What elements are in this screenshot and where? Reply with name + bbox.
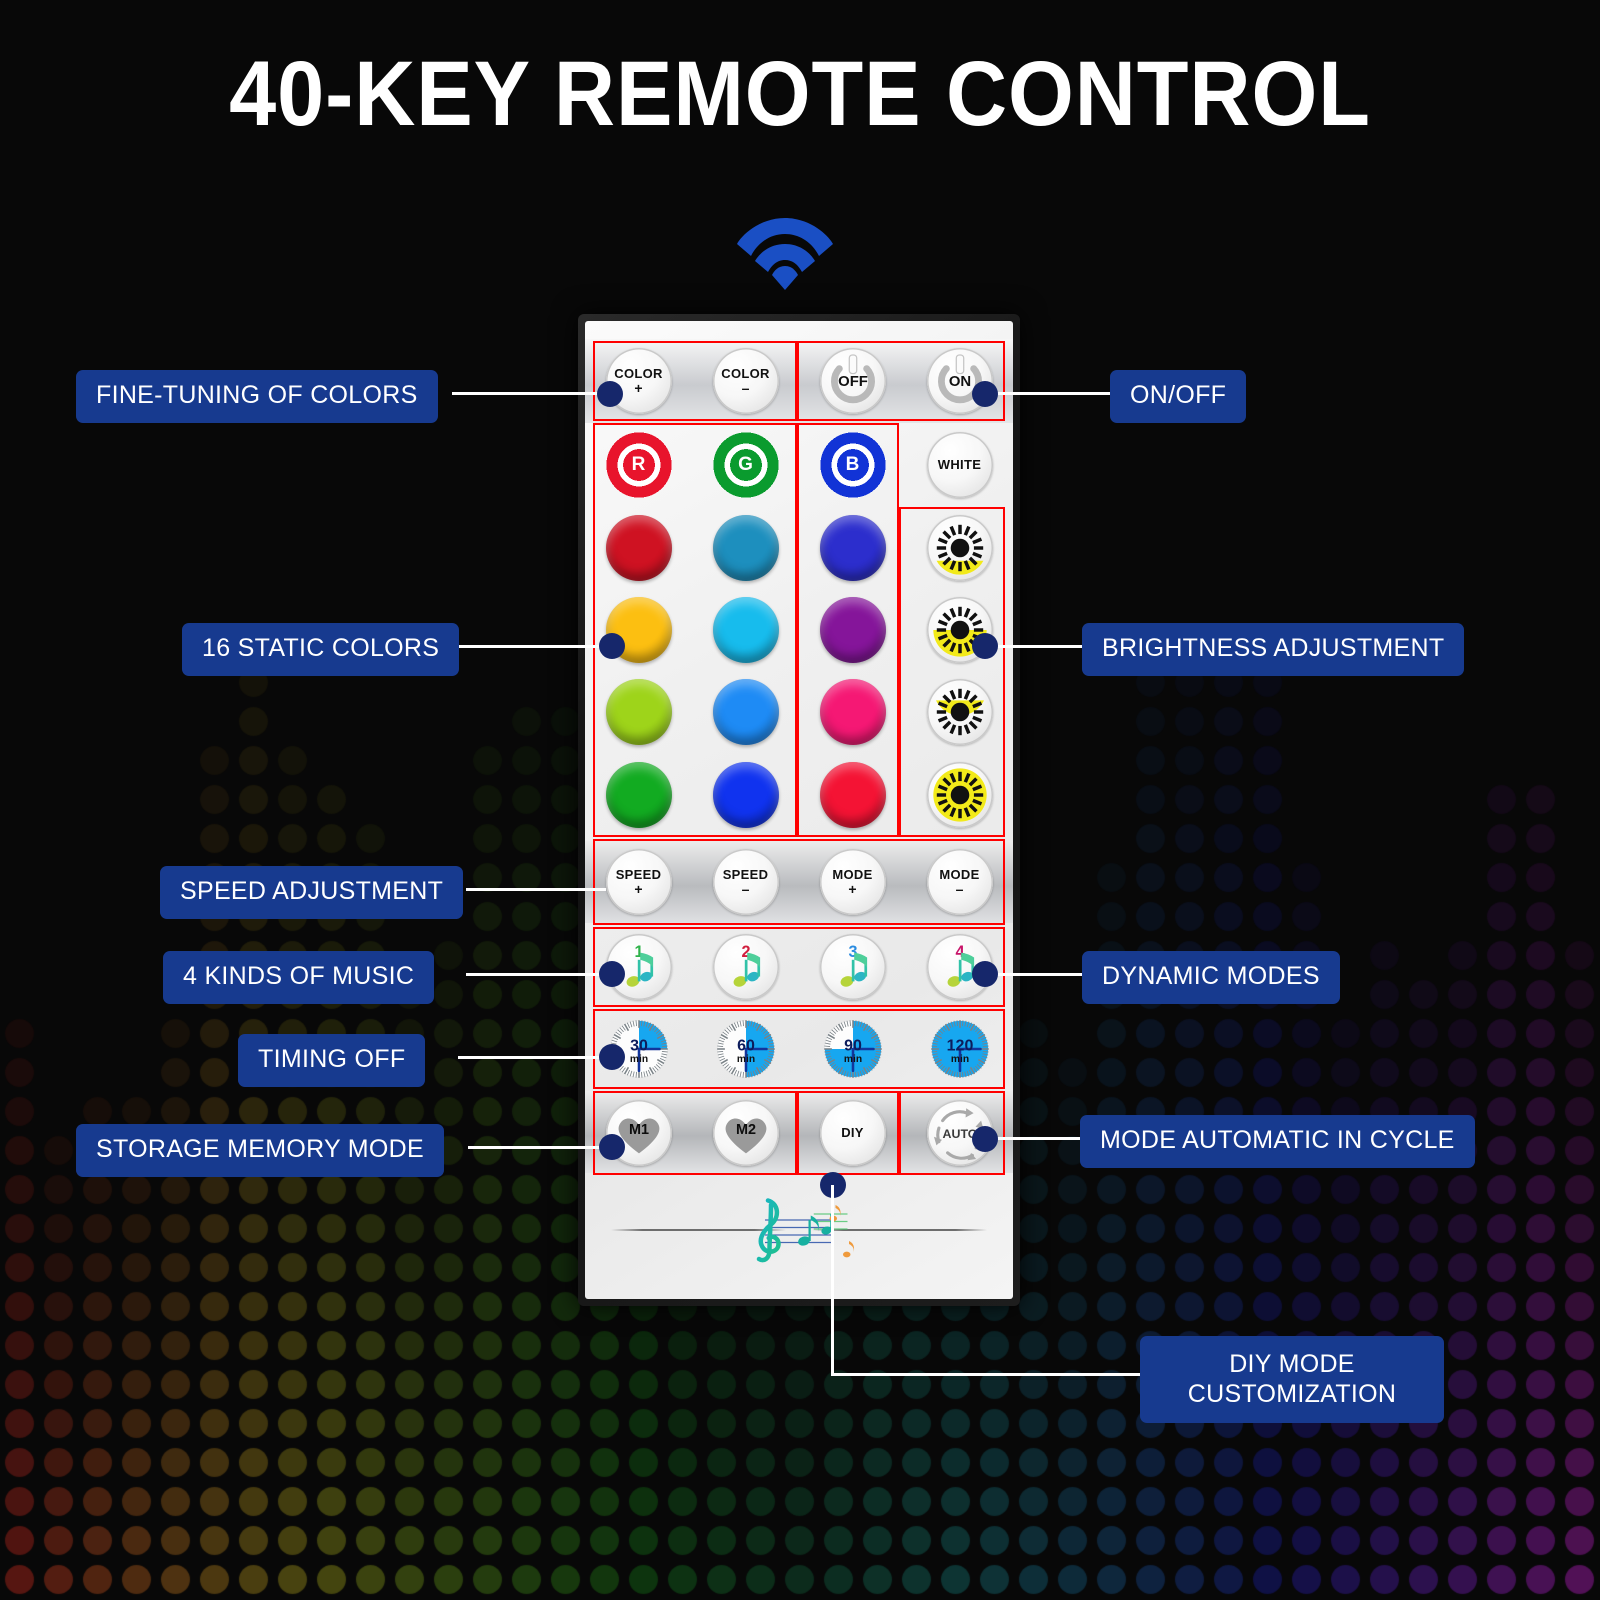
memory-m2-button-cell: M2 xyxy=(692,1091,799,1175)
nub-dynamic xyxy=(972,961,998,987)
leader-timing xyxy=(458,1056,609,1059)
label-speed-adjustment: SPEED ADJUSTMENT xyxy=(160,866,463,919)
label-storage-memory-mode: STORAGE MEMORY MODE xyxy=(76,1124,444,1177)
off-button[interactable]: OFF xyxy=(820,348,886,414)
color-plus-button-cell: COLOR+ xyxy=(585,341,692,421)
label-mode-automatic-in-cycle: MODE AUTOMATIC IN CYCLE xyxy=(1080,1115,1475,1168)
svg-text:M1: M1 xyxy=(629,1122,649,1138)
music-staff-logo xyxy=(585,1183,1013,1273)
color-swatch-cyan[interactable] xyxy=(713,597,779,663)
color-swatch-magenta-cell xyxy=(799,671,906,753)
keypad-row-row-colors-2 xyxy=(585,589,1013,671)
label-diy-mode-customization: DIY MODE CUSTOMIZATION xyxy=(1140,1336,1444,1423)
svg-text:ON: ON xyxy=(948,374,970,390)
svg-text:min: min xyxy=(950,1054,968,1065)
nub-fine-tuning xyxy=(597,381,623,407)
color-swatch-cyan-cell xyxy=(692,589,799,671)
svg-text:30: 30 xyxy=(630,1037,648,1054)
memory-m1-button-cell: M1 xyxy=(585,1091,692,1175)
color-swatch-purple[interactable] xyxy=(820,597,886,663)
mode-minus-button[interactable]: MODE– xyxy=(927,849,993,915)
blue-ring-button-cell: B xyxy=(799,423,906,507)
diy-button-cell: DIY xyxy=(799,1091,906,1175)
color-minus-button[interactable]: COLOR– xyxy=(713,348,779,414)
mode-plus-button-label: MODE xyxy=(832,868,872,882)
color-swatch-blue[interactable] xyxy=(713,762,779,828)
keypad-row-row-music: 1234 xyxy=(585,927,1013,1007)
keypad-row-row-speed-mode: SPEED+SPEED–MODE+MODE– xyxy=(585,839,1013,925)
keypad-row-row-power: COLOR+COLOR–OFFON xyxy=(585,341,1013,421)
speed-minus-button-sign: – xyxy=(742,882,750,896)
speed-minus-button-cell: SPEED– xyxy=(692,839,799,925)
remote-control-device: COLOR+COLOR–OFFONRGBWHITESPEED+SPEED–MOD… xyxy=(578,314,1020,1306)
off-button-cell: OFF xyxy=(799,341,906,421)
mode-plus-button-sign: + xyxy=(848,882,856,896)
nub-static-colors xyxy=(599,633,625,659)
nub-auto xyxy=(972,1126,998,1152)
label-diy-line2: CUSTOMIZATION xyxy=(1158,1380,1426,1410)
label-timing-off: TIMING OFF xyxy=(238,1034,425,1087)
color-swatch-lime[interactable] xyxy=(606,679,672,745)
green-ring-button-cell: G xyxy=(692,423,799,507)
color-minus-button-label: COLOR xyxy=(721,367,769,381)
color-swatch-green[interactable] xyxy=(606,762,672,828)
color-swatch-azure[interactable] xyxy=(713,679,779,745)
color-swatch-red[interactable] xyxy=(820,762,886,828)
memory-m2-button[interactable]: M2 xyxy=(713,1100,779,1166)
brightness-25-button-cell xyxy=(906,507,1013,589)
green-ring-button-letter: G xyxy=(731,450,761,480)
diy-button-label: DIY xyxy=(841,1126,864,1140)
remote-faceplate: COLOR+COLOR–OFFONRGBWHITESPEED+SPEED–MOD… xyxy=(585,321,1013,1299)
svg-text:min: min xyxy=(843,1054,861,1065)
speed-minus-button-label: SPEED xyxy=(723,868,769,882)
color-swatch-amber-cell xyxy=(585,589,692,671)
color-swatch-crimson-cell xyxy=(585,507,692,589)
wifi-icon xyxy=(735,200,835,290)
timer-120min-button-cell: 120min xyxy=(906,1009,1013,1089)
mode-plus-button[interactable]: MODE+ xyxy=(820,849,886,915)
on-button-cell: ON xyxy=(906,341,1013,421)
white-button[interactable]: WHITE xyxy=(927,432,993,498)
brightness-100-button-cell xyxy=(906,753,1013,837)
svg-text:60: 60 xyxy=(737,1037,755,1054)
speed-plus-button-cell: SPEED+ xyxy=(585,839,692,925)
speed-plus-button[interactable]: SPEED+ xyxy=(606,849,672,915)
speed-plus-button-sign: + xyxy=(634,882,642,896)
brightness-25-button[interactable] xyxy=(927,515,993,581)
label-diy-line1: DIY MODE xyxy=(1158,1350,1426,1380)
music-mode-3-button-cell: 3 xyxy=(799,927,906,1007)
svg-text:90: 90 xyxy=(844,1037,862,1054)
color-plus-button-label: COLOR xyxy=(614,367,662,381)
brightness-75-button[interactable] xyxy=(927,679,993,745)
white-button-cell: WHITE xyxy=(906,423,1013,507)
keypad-row-row-colors-4 xyxy=(585,753,1013,837)
color-swatch-magenta[interactable] xyxy=(820,679,886,745)
color-minus-button-cell: COLOR– xyxy=(692,341,799,421)
mode-minus-button-label: MODE xyxy=(939,868,979,882)
color-swatch-teal-cell xyxy=(692,507,799,589)
leader-music xyxy=(466,973,609,976)
white-button-label: WHITE xyxy=(938,458,981,472)
nub-music xyxy=(599,961,625,987)
nub-storage xyxy=(599,1134,625,1160)
mode-minus-button-cell: MODE– xyxy=(906,839,1013,925)
red-ring-button[interactable]: R xyxy=(606,432,672,498)
diy-button[interactable]: DIY xyxy=(820,1100,886,1166)
color-swatch-azure-cell xyxy=(692,671,799,753)
nub-onoff xyxy=(972,381,998,407)
label-on-off: ON/OFF xyxy=(1110,370,1246,423)
leader-diy-vertical xyxy=(831,1185,834,1375)
color-swatch-green-cell xyxy=(585,753,692,837)
music-mode-2-button[interactable]: 2 xyxy=(713,934,779,1000)
nub-brightness xyxy=(972,633,998,659)
music-mode-3-button[interactable]: 3 xyxy=(820,934,886,1000)
nub-timing xyxy=(599,1044,625,1070)
color-swatch-purple-cell xyxy=(799,589,906,671)
music-mode-2-button-cell: 2 xyxy=(692,927,799,1007)
color-swatch-lime-cell xyxy=(585,671,692,753)
label-4-kinds-of-music: 4 KINDS OF MUSIC xyxy=(163,951,434,1004)
color-swatch-blue-cell xyxy=(692,753,799,837)
keypad-row-row-rgbw: RGBWHITE xyxy=(585,423,1013,507)
color-swatch-teal[interactable] xyxy=(713,515,779,581)
svg-text:OFF: OFF xyxy=(838,374,868,390)
red-ring-button-cell: R xyxy=(585,423,692,507)
timer-120min-button[interactable]: 120min xyxy=(927,1016,993,1082)
brightness-100-button[interactable] xyxy=(927,762,993,828)
svg-text:min: min xyxy=(736,1054,754,1065)
brightness-50-button-cell xyxy=(906,589,1013,671)
label-brightness-adjustment: BRIGHTNESS ADJUSTMENT xyxy=(1082,623,1464,676)
keypad-row-row-timer: 30min60min90min120min xyxy=(585,1009,1013,1089)
speed-plus-button-label: SPEED xyxy=(616,868,662,882)
blue-ring-button-letter: B xyxy=(838,450,868,480)
svg-text:M2: M2 xyxy=(736,1122,756,1138)
label-16-static-colors: 16 STATIC COLORS xyxy=(182,623,459,676)
leader-speed xyxy=(466,888,606,891)
label-fine-tuning-of-colors: FINE-TUNING OF COLORS xyxy=(76,370,438,423)
timer-60min-button-cell: 60min xyxy=(692,1009,799,1089)
green-ring-button[interactable]: G xyxy=(713,432,779,498)
label-dynamic-modes: DYNAMIC MODES xyxy=(1082,951,1340,1004)
keypad-row-row-memory: M1M2DIYAUTO xyxy=(585,1091,1013,1175)
leader-onoff xyxy=(990,392,1122,395)
keypad-row-row-colors-3 xyxy=(585,671,1013,753)
color-minus-button-sign: – xyxy=(742,381,750,395)
leader-fine-tuning xyxy=(452,392,607,395)
page-title: 40-KEY REMOTE CONTROL xyxy=(64,42,1536,147)
leader-diy-horizontal xyxy=(831,1373,1141,1376)
blue-ring-button[interactable]: B xyxy=(820,432,886,498)
leader-static-colors xyxy=(447,645,609,648)
color-swatch-indigo-cell xyxy=(799,507,906,589)
mode-minus-button-sign: – xyxy=(956,882,964,896)
timer-60min-button[interactable]: 60min xyxy=(713,1016,779,1082)
leader-storage xyxy=(468,1146,609,1149)
color-swatch-red-cell xyxy=(799,753,906,837)
brightness-75-button-cell xyxy=(906,671,1013,753)
red-ring-button-letter: R xyxy=(624,450,654,480)
color-swatch-indigo[interactable] xyxy=(820,515,886,581)
mode-plus-button-cell: MODE+ xyxy=(799,839,906,925)
svg-text:min: min xyxy=(629,1054,647,1065)
color-plus-button-sign: + xyxy=(634,381,642,395)
svg-text:120: 120 xyxy=(946,1037,973,1054)
timer-90min-button-cell: 90min xyxy=(799,1009,906,1089)
speed-minus-button[interactable]: SPEED– xyxy=(713,849,779,915)
timer-90min-button[interactable]: 90min xyxy=(820,1016,886,1082)
infographic-root: 40-KEY REMOTE CONTROL COLOR+COLOR–OFFONR… xyxy=(0,0,1600,1600)
music-mode-4-button-cell: 4 xyxy=(906,927,1013,1007)
keypad-row-row-colors-1 xyxy=(585,507,1013,589)
color-swatch-crimson[interactable] xyxy=(606,515,672,581)
